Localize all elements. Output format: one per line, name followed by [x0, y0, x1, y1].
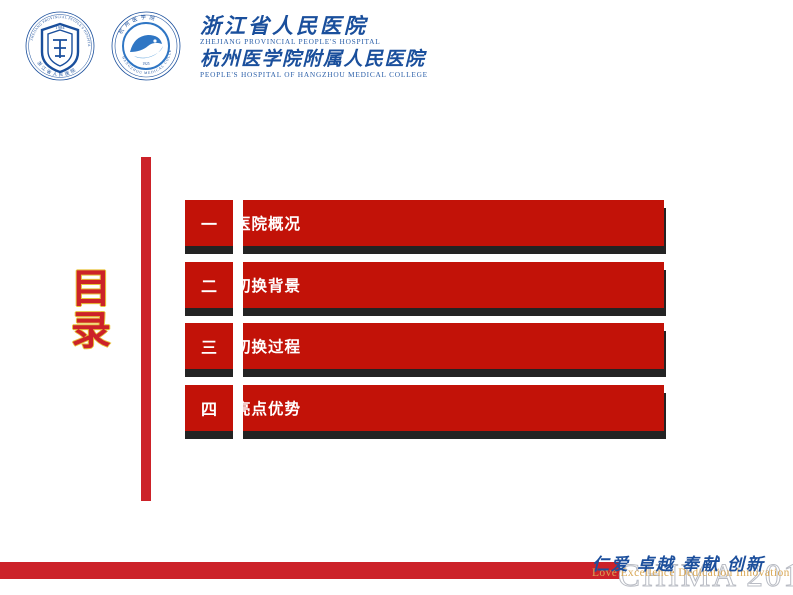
- logo-row: 1984 ZHEJIANG PROVINCIAL PEOPLE'S HOSPIT…: [22, 8, 426, 84]
- agenda-item-2[interactable]: 二 切换背景: [185, 262, 666, 316]
- footer-red-bar: [0, 562, 620, 579]
- agenda-item-3-label[interactable]: 切换过程: [235, 323, 301, 369]
- agenda-item-3-number[interactable]: 三: [185, 323, 233, 369]
- page-title: 目 录: [60, 268, 122, 352]
- agenda-item-1-number[interactable]: 一: [185, 200, 233, 246]
- slide-body: 目 录 一 医院概况 二 切换背景 三 切换过程: [0, 100, 793, 550]
- page-title-char-2: 录: [60, 310, 122, 352]
- agenda-item-1-bar[interactable]: [243, 200, 664, 246]
- svg-text:1925: 1925: [142, 62, 149, 66]
- wordmark-line2-cn: 杭州医学院附属人民医院: [200, 49, 426, 71]
- agenda-item-4-bar[interactable]: [243, 385, 664, 431]
- vertical-red-rule: [141, 157, 151, 501]
- hospital-wordmark: 浙江省人民医院 ZHEJIANG PROVINCIAL PEOPLE'S HOS…: [200, 12, 426, 80]
- agenda-item-4-number[interactable]: 四: [185, 385, 233, 431]
- hospital-shield-crest-icon: 1984 ZHEJIANG PROVINCIAL PEOPLE'S HOSPIT…: [22, 8, 98, 84]
- slide-header: 1984 ZHEJIANG PROVINCIAL PEOPLE'S HOSPIT…: [0, 0, 793, 100]
- agenda-item-4-label[interactable]: 亮点优势: [235, 385, 301, 431]
- agenda-item-4[interactable]: 四 亮点优势: [185, 385, 666, 439]
- agenda-item-2-number[interactable]: 二: [185, 262, 233, 308]
- motto-cn-word-1: 仁爱: [592, 555, 630, 575]
- agenda-item-1[interactable]: 一 医院概况: [185, 200, 666, 254]
- wordmark-line2-en: PEOPLE'S HOSPITAL OF HANGZHOU MEDICAL CO…: [200, 71, 430, 80]
- motto-cn-word-2: 卓越: [637, 555, 675, 575]
- medical-college-round-seal-icon: 1925 杭州医学院 HANGZHOU MEDICAL COLLEGE: [108, 8, 184, 84]
- svg-text:1984: 1984: [55, 25, 65, 30]
- wordmark-line1-en: ZHEJIANG PROVINCIAL PEOPLE'S HOSPITAL: [200, 38, 430, 47]
- agenda-item-3-bar[interactable]: [243, 323, 664, 369]
- motto-chinese: 仁爱卓越奉献创新: [592, 550, 772, 575]
- page-title-char-1: 目: [60, 268, 122, 310]
- motto-cn-word-3: 奉献: [682, 555, 720, 575]
- agenda-item-2-label[interactable]: 切换背景: [235, 262, 301, 308]
- agenda-item-2-bar[interactable]: [243, 262, 664, 308]
- motto-cn-word-4: 创新: [727, 555, 765, 575]
- agenda-item-3[interactable]: 三 切换过程: [185, 323, 666, 377]
- agenda-item-1-label[interactable]: 医院概况: [235, 200, 301, 246]
- wordmark-line1-cn: 浙江省人民医院: [200, 14, 426, 38]
- svg-text:浙江省人民医院: 浙江省人民医院: [35, 60, 78, 78]
